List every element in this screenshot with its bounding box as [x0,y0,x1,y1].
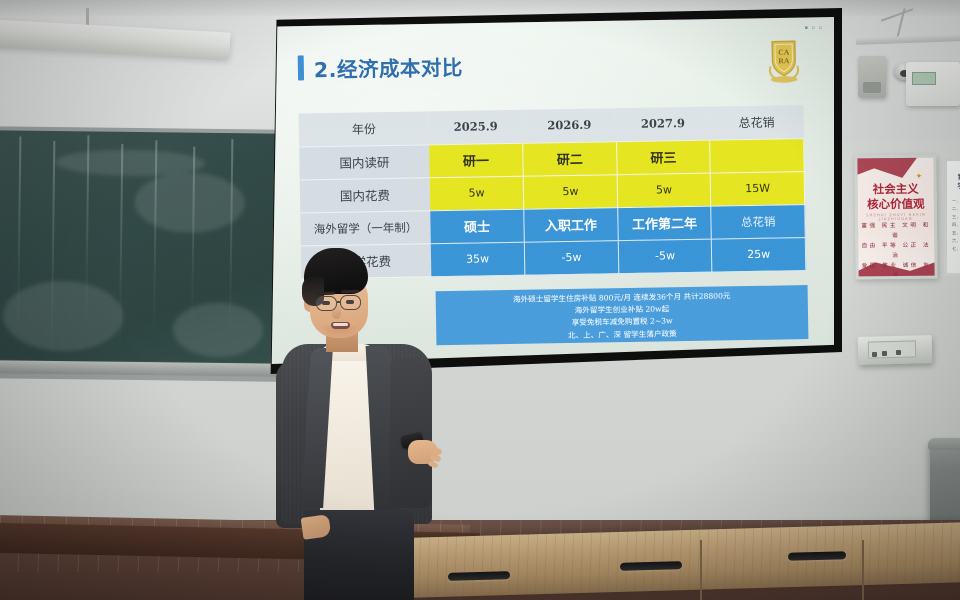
podium-cable-slot [448,571,510,581]
slide-title: 2.经济成本对比 [314,51,464,83]
poster-title-line2: 核心价值观 [867,197,925,212]
presenter-teeth [333,323,348,326]
title-accent-bar [298,55,304,80]
poster-line: 七、... [952,245,960,253]
trash-bin-lid [928,438,960,450]
poster-line: 三、... [952,213,960,221]
poster-top-decoration [854,155,921,179]
control-box-button[interactable] [882,351,887,356]
svg-text:RA: RA [778,56,790,65]
table-cell: 硕士 [430,209,524,244]
chalkboard [0,130,281,373]
row-label: 海外留学（一年制） [300,210,431,245]
presenter-nose [332,306,341,319]
core-values-poster: ✦ 社会主义 核心价值观 SHEHUI ZHUYI HEXIN JIAZHIGU… [854,155,937,280]
podium-seam [700,540,702,600]
poster-title-line1: 社会主义 [873,182,919,196]
poster-line: 五、... [952,229,960,237]
speaker-grille [863,82,881,93]
poster-title: 社会主义 核心价值观 [858,182,934,213]
header-cell: 2026.9 [522,108,616,143]
presenter-glasses-bridge [337,301,341,303]
poster-line: 四、... [952,221,960,229]
table-cell: 研三 [616,140,710,175]
table-cell: 5w [430,176,524,211]
podium-cable-slot [788,551,846,561]
benefits-note-box: 海外硕士留学生住房补贴 800元/月 连续发36个月 共计28800元 海外留学… [436,285,809,345]
table-cell [710,138,804,173]
table-cell: -5w [618,239,712,274]
presenter [260,248,450,600]
poster-value-row: 富强 民主 文明 和谐 [858,221,934,242]
table-cell: 5w [523,174,617,209]
table-cell: 研二 [523,141,617,176]
poster-value-row: 自由 平等 公正 法治 [858,241,934,262]
header-cell-total: 总花销 [709,105,803,140]
header-cell-year-label: 年份 [299,111,430,146]
control-box-button[interactable] [872,352,877,357]
header-cell: 2027.9 [616,107,710,142]
screen-corner-marking: ▪ ▫ ▫ [805,25,823,31]
secondary-poster-lines: 一、... 二、... 三、... 四、... 五、... 六、... 七、..… [952,197,960,253]
presenter-glasses-right-lens [340,295,361,310]
row-label: 国内花费 [300,177,431,212]
podium-cable-slot [620,561,682,571]
table-cell: 25w [712,237,806,272]
header-cell: 2025.9 [429,110,523,145]
presenter-eyebrow-right [341,290,359,294]
podium-seam [862,540,864,600]
table-cell: 15W [711,171,805,206]
poster-line: 一、... [952,197,960,205]
poster-line: 六、... [952,237,960,245]
row-label: 国内读研 [299,144,430,179]
university-shield-logo: CA RA [764,37,803,84]
table-cell: 研一 [429,143,523,178]
secondary-poster: 青年学生 一、... 二、... 三、... 四、... 五、... 六、...… [944,158,960,276]
panel-lcd-display [912,72,936,85]
table-cell: 5w [617,173,711,208]
table-cell: -5w [524,240,618,275]
table-cell: 工作第二年 [617,206,711,241]
table-cell: 入职工作 [524,207,618,242]
table-cell: 总花销 [711,204,805,239]
classroom-photo: ✦ 社会主义 核心价值观 SHEHUI ZHUYI HEXIN JIAZHIGU… [0,0,960,600]
poster-star-icon: ✦ [916,172,926,182]
control-box-button[interactable] [896,350,901,355]
poster-line: 二、... [952,205,960,213]
secondary-poster-title: 青年学生 [947,173,960,191]
